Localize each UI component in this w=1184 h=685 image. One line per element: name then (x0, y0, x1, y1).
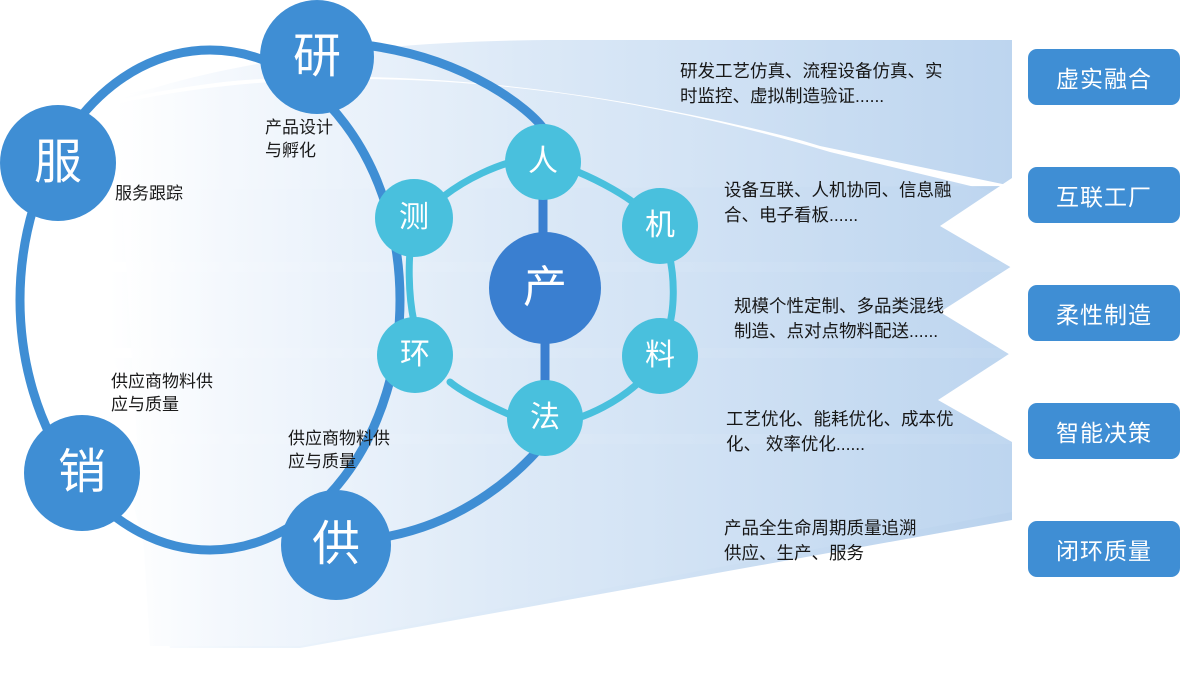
node-circle-ce (375, 179, 453, 257)
capability-pill-1[interactable]: 虚实融合 (1028, 49, 1180, 105)
node-circle-liao (622, 318, 698, 394)
capability-description-5: 产品全生命周期质量追溯 供应、生产、服务 (724, 516, 1024, 567)
capability-description-2: 设备互联、人机协同、信息融 合、电子看板...... (724, 178, 1024, 229)
node-circle-ji (622, 188, 698, 264)
note-supplier-right: 供应商物料供 应与质量 (288, 428, 390, 474)
capability-description-4: 工艺优化、能耗优化、成本优 化、 效率优化...... (726, 407, 1026, 458)
note-service-tracking: 服务跟踪 (115, 183, 183, 206)
capability-pill-2[interactable]: 互联工厂 (1028, 167, 1180, 223)
node-circle-fa (507, 380, 583, 456)
note-supplier-left: 供应商物料供 应与质量 (111, 371, 213, 417)
capability-description-3: 规模个性定制、多品类混线 制造、点对点物料配送...... (734, 294, 1034, 345)
capability-pill-4[interactable]: 智能决策 (1028, 403, 1180, 459)
node-circle-fu (0, 105, 116, 221)
node-circle-chan (489, 232, 601, 344)
node-circle-huan (377, 317, 453, 393)
capability-description-1: 研发工艺仿真、流程设备仿真、实 时监控、虚拟制造验证...... (680, 59, 1010, 110)
capability-pill-3[interactable]: 柔性制造 (1028, 285, 1180, 341)
capability-pill-5[interactable]: 闭环质量 (1028, 521, 1180, 577)
node-circle-yan (260, 0, 374, 114)
node-circle-xiao (24, 415, 140, 531)
diagram-canvas: 服 研 销 供 产 测 人 机 料 法 环 产品设计 与孵化 服务跟踪 供应商物… (0, 0, 1184, 685)
node-circle-ren (505, 124, 581, 200)
node-circle-gong (281, 490, 391, 600)
note-product-design: 产品设计 与孵化 (265, 117, 333, 163)
